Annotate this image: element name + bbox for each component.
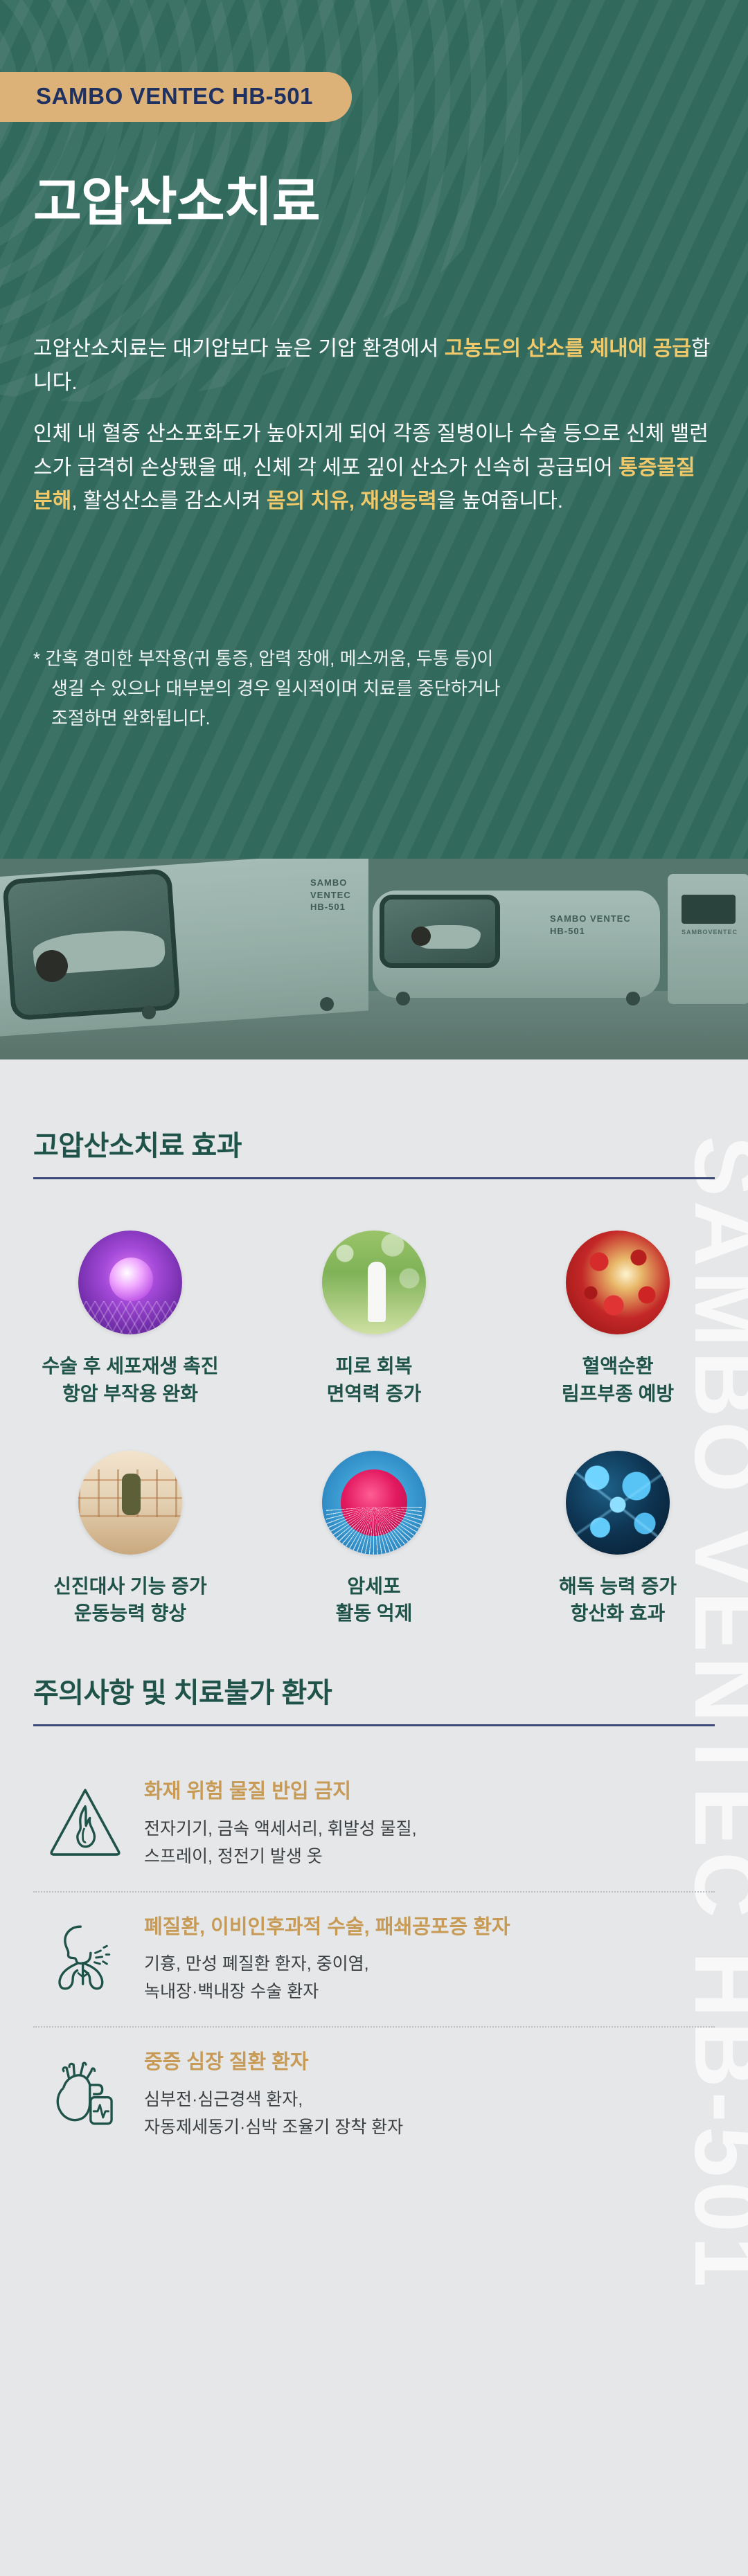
fatigue-recovery-icon bbox=[322, 1231, 426, 1334]
caution-heading: 중증 심장 질환 환자 bbox=[144, 2050, 715, 2076]
para2-text-c: 을 높여줍니다. bbox=[437, 490, 563, 512]
hero-section: SAMBO VENTEC HB-501 고압산소치료 고압산소치료는 대기압보다… bbox=[0, 0, 748, 859]
caution-description: 전자기기, 금속 액세서리, 휘발성 물질, 스프레이, 정전기 발생 옷 bbox=[144, 1815, 715, 1870]
effect-caption: 피로 회복 면역력 증가 bbox=[327, 1352, 422, 1408]
para2-highlight-2: 몸의 치유, 재생능력 bbox=[267, 490, 437, 512]
caution-description: 심부전·심근경색 환자, 자동제세동기·심박 조율기 장착 환자 bbox=[144, 2086, 715, 2141]
product-photo-left: SAMBO VENTEC HB-501 bbox=[0, 859, 368, 1059]
caution-item: 폐질환, 이비인후과적 수술, 패쇄공포증 환자 기흉, 만성 폐질환 환자, … bbox=[33, 1891, 715, 2027]
para2-text-b: , 활성산소를 감소시켜 bbox=[71, 490, 267, 512]
caution-section: 주의사항 및 치료불가 환자 화재 위험 물질 반입 금지 전자기기, 금속 액… bbox=[0, 1670, 748, 2162]
effect-item: 신진대사 기능 증가 운동능력 향상 bbox=[33, 1451, 227, 1628]
detox-molecule-icon bbox=[566, 1451, 670, 1555]
hero-paragraph-2: 인체 내 혈중 산소포화도가 높아지게 되어 각종 질병이나 수술 등으로 신체… bbox=[33, 418, 719, 519]
footnote-line-2: 생길 수 있으나 대부분의 경우 일시적이며 치료를 중단하거나 bbox=[33, 674, 712, 704]
product-model-badge: SAMBO VENTEC HB-501 bbox=[0, 72, 352, 122]
page-title: 고압산소치료 bbox=[33, 159, 320, 235]
effects-row-1: 수술 후 세포재생 촉진 항암 부작용 완화 피로 회복 면역력 증가 혈액순환… bbox=[33, 1231, 715, 1408]
caution-heading: 화재 위험 물질 반입 금지 bbox=[144, 1779, 715, 1805]
blood-circulation-icon bbox=[566, 1231, 670, 1334]
effect-caption: 암세포 활동 억제 bbox=[336, 1573, 413, 1628]
cell-regeneration-icon bbox=[78, 1231, 182, 1334]
caution-list: 화재 위험 물질 반입 금지 전자기기, 금속 액세서리, 휘발성 물질, 스프… bbox=[33, 1757, 715, 2162]
effect-caption: 혈액순환 림프부종 예방 bbox=[562, 1352, 674, 1408]
effect-caption: 신진대사 기능 증가 운동능력 향상 bbox=[53, 1573, 207, 1628]
photo-tint-right bbox=[368, 859, 748, 1059]
metabolism-icon bbox=[78, 1451, 182, 1555]
para1-text-a: 고압산소치료는 대기압보다 높은 기압 환경에서 bbox=[33, 337, 445, 360]
caution-title: 주의사항 및 치료불가 환자 bbox=[33, 1670, 715, 1710]
footnote-line-3: 조절하면 완화됩니다. bbox=[33, 704, 712, 733]
effect-item: 해독 능력 증가 항산화 효과 bbox=[521, 1451, 715, 1628]
effects-title: 고압산소치료 효과 bbox=[33, 1123, 715, 1163]
caution-heading: 폐질환, 이비인후과적 수술, 패쇄공포증 환자 bbox=[144, 1915, 715, 1941]
hero-paragraph-1: 고압산소치료는 대기압보다 높은 기압 환경에서 고농도의 산소를 체내에 공급… bbox=[33, 332, 719, 400]
effect-caption: 수술 후 세포재생 촉진 항암 부작용 완화 bbox=[42, 1352, 218, 1408]
product-photo-right: SAMBO VENTEC HB-501 SAMBOVENTEC bbox=[368, 859, 748, 1059]
heart-disease-icon bbox=[33, 2050, 137, 2131]
caution-description: 기흉, 만성 폐질환 환자, 중이염, 녹내장·백내장 수술 환자 bbox=[144, 1950, 715, 2005]
caution-divider bbox=[33, 1724, 715, 1726]
caution-text: 화재 위험 물질 반입 금지 전자기기, 금속 액세서리, 휘발성 물질, 스프… bbox=[137, 1779, 715, 1870]
lung-respiratory-icon bbox=[33, 1915, 137, 1996]
flammable-warning-icon bbox=[33, 1779, 137, 1861]
effects-grid: 수술 후 세포재생 촉진 항암 부작용 완화 피로 회복 면역력 증가 혈액순환… bbox=[0, 1231, 748, 1627]
caution-item: 중증 심장 질환 환자 심부전·심근경색 환자, 자동제세동기·심박 조율기 장… bbox=[33, 2026, 715, 2162]
infographic-page: SAMBO VENTEC HB-501 고압산소치료 고압산소치료는 대기압보다… bbox=[0, 0, 748, 2576]
caution-item: 화재 위험 물질 반입 금지 전자기기, 금속 액세서리, 휘발성 물질, 스프… bbox=[33, 1757, 715, 1891]
footnote-line-1: * 간혹 경미한 부작용(귀 통증, 압력 장애, 메스꺼움, 두통 등)이 bbox=[33, 648, 493, 669]
effects-row-2: 신진대사 기능 증가 운동능력 향상 암세포 활동 억제 해독 능력 증가 항산… bbox=[33, 1451, 715, 1628]
effect-item: 암세포 활동 억제 bbox=[277, 1451, 471, 1628]
photo-tint-left bbox=[0, 859, 368, 1059]
caution-text: 중증 심장 질환 환자 심부전·심근경색 환자, 자동제세동기·심박 조율기 장… bbox=[137, 2050, 715, 2141]
caution-text: 폐질환, 이비인후과적 수술, 패쇄공포증 환자 기흉, 만성 폐질환 환자, … bbox=[137, 1915, 715, 2006]
para1-highlight-2: 체내에 공급 bbox=[590, 337, 691, 360]
hero-description: 고압산소치료는 대기압보다 높은 기압 환경에서 고농도의 산소를 체내에 공급… bbox=[33, 332, 719, 537]
effect-item: 혈액순환 림프부종 예방 bbox=[521, 1231, 715, 1408]
para1-highlight-1: 고농도의 산소를 bbox=[445, 337, 585, 360]
effects-section-header: 고압산소치료 효과 bbox=[0, 1123, 748, 1179]
para2-text-a: 인체 내 혈중 산소포화도가 높아지게 되어 각종 질병이나 수술 등으로 신체… bbox=[33, 422, 709, 479]
cancer-cell-icon bbox=[322, 1451, 426, 1555]
hero-footnote: * 간혹 경미한 부작용(귀 통증, 압력 장애, 메스꺼움, 두통 등)이 생… bbox=[33, 644, 712, 733]
effect-caption: 해독 능력 증가 항산화 효과 bbox=[559, 1573, 677, 1628]
product-photo-band: SAMBO VENTEC HB-501 SAMBO VENTEC HB-501 … bbox=[0, 859, 748, 1059]
effects-divider bbox=[33, 1177, 715, 1179]
effect-item: 피로 회복 면역력 증가 bbox=[277, 1231, 471, 1408]
effect-item: 수술 후 세포재생 촉진 항암 부작용 완화 bbox=[33, 1231, 227, 1408]
